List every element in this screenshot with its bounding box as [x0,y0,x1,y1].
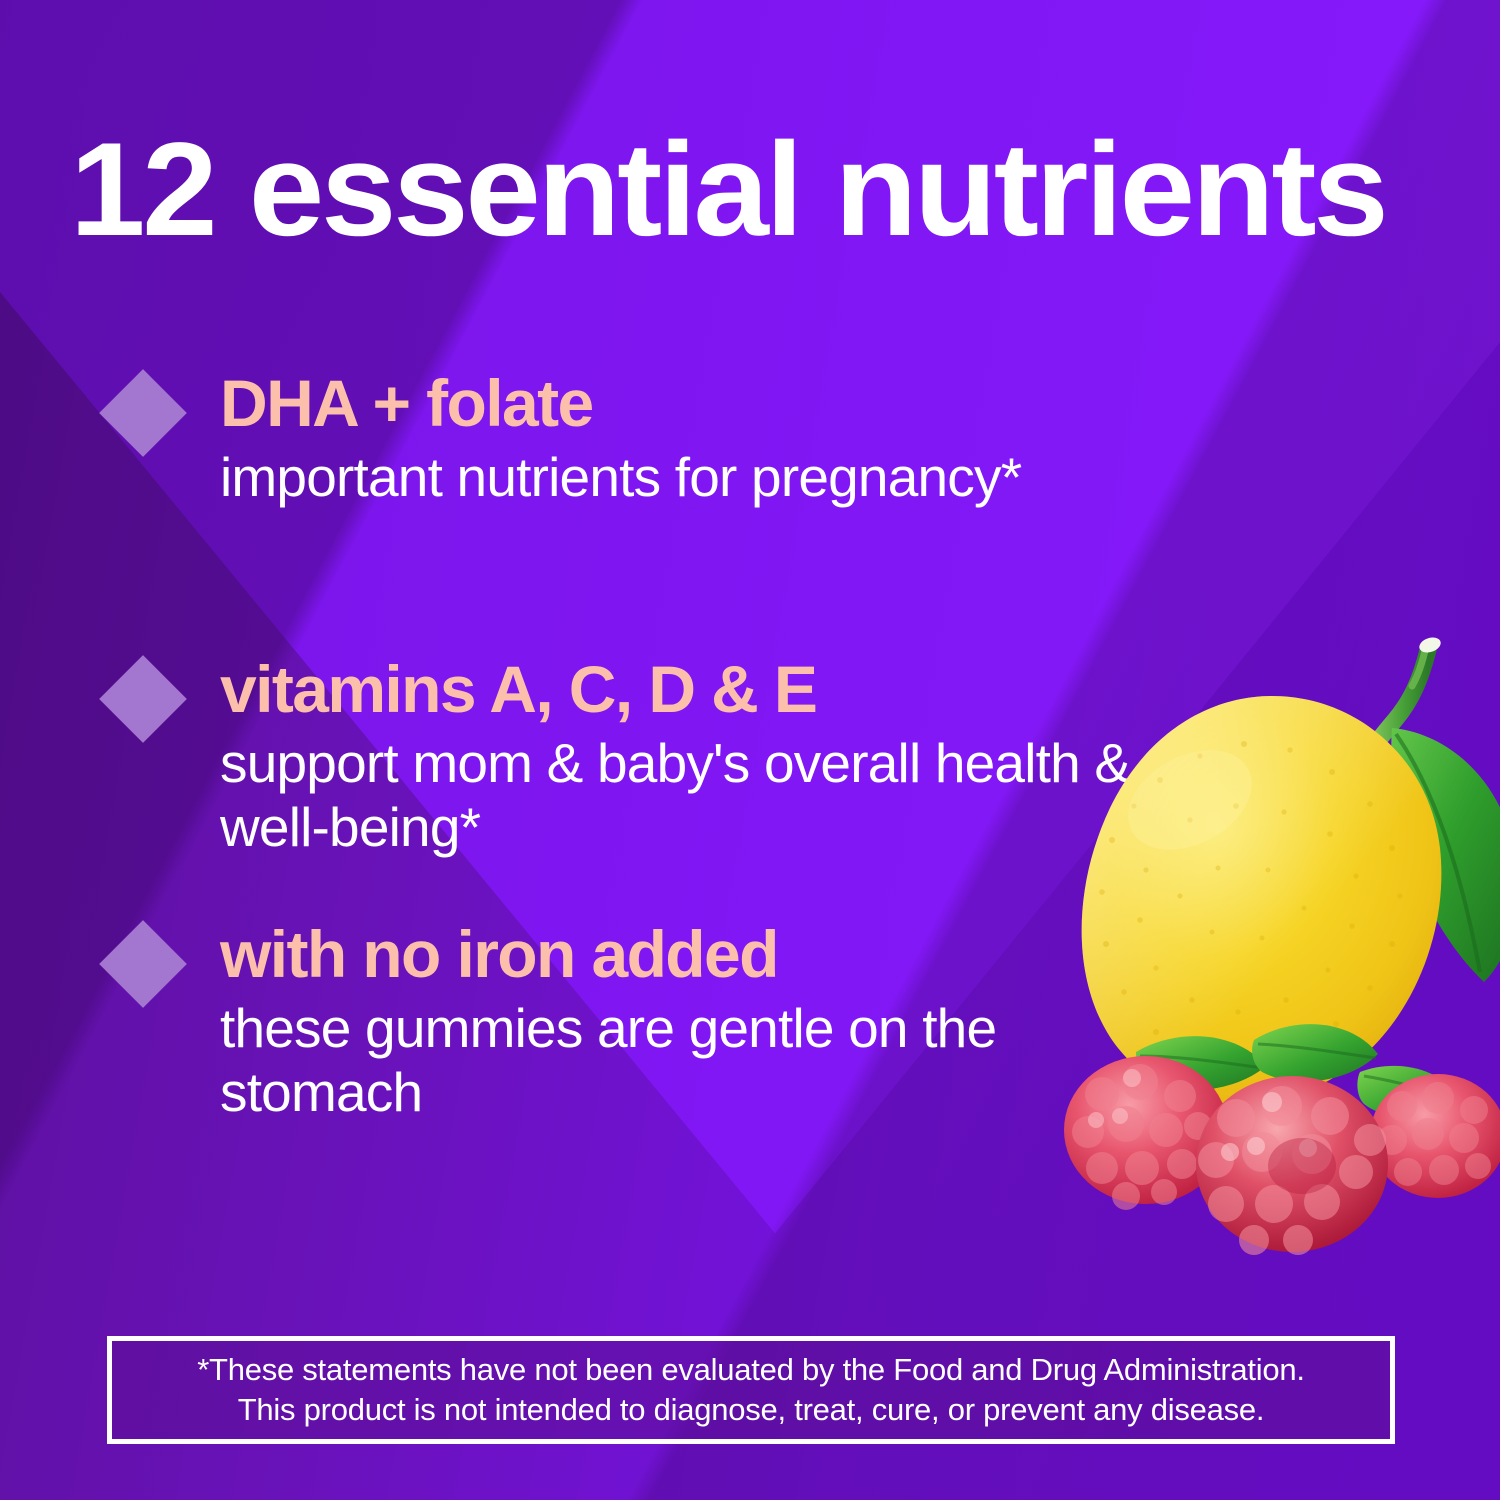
benefit-subtitle: these gummies are gentle on the stomach [220,997,1138,1125]
list-item: vitamins A, C, D & E support mom & baby'… [108,656,1138,860]
disclaimer-box: *These statements have not been evaluate… [107,1336,1395,1444]
benefit-subtitle: support mom & baby's overall health & we… [220,732,1138,860]
diamond-bullet-icon [99,921,187,1009]
benefit-subtitle: important nutrients for pregnancy* [220,446,1138,510]
product-feature-panel: 12 essential nutrients DHA + folate impo… [0,0,1500,1500]
diamond-bullet-icon [99,369,187,457]
disclaimer-text: *These statements have not been evaluate… [197,1350,1305,1431]
benefit-title: vitamins A, C, D & E [220,656,1138,722]
benefits-list: DHA + folate important nutrients for pre… [108,370,1138,1125]
page-title: 12 essential nutrients [70,124,1478,257]
benefit-title: with no iron added [220,921,1138,987]
benefit-title: DHA + folate [220,370,1138,436]
diamond-bullet-icon [99,655,187,743]
list-item: DHA + folate important nutrients for pre… [108,370,1138,510]
list-item: with no iron added these gummies are gen… [108,921,1138,1125]
